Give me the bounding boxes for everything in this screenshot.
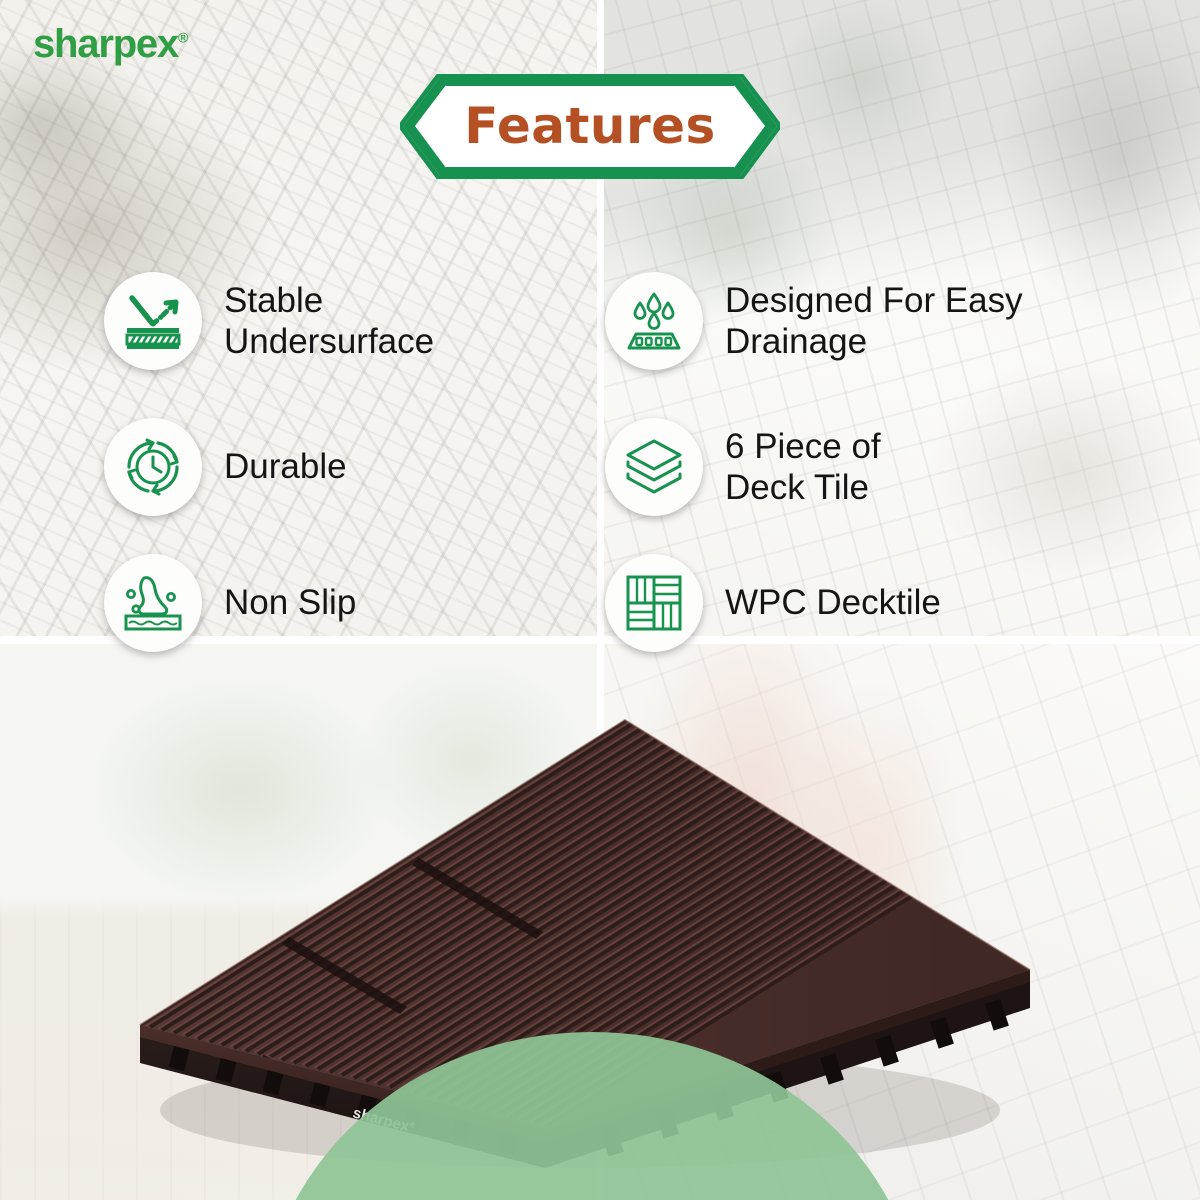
features-banner: Features: [400, 74, 780, 179]
feature-item-wpc-decktile: WPC Decktile: [605, 554, 941, 652]
impact-surface-icon: [122, 290, 184, 352]
brand-logo-text: sharpex: [33, 22, 178, 66]
feature-label: 6 Piece of Deck Tile: [725, 426, 881, 509]
feature-item-durable: Durable: [104, 418, 347, 516]
feature-label: Designed For Easy Drainage: [725, 280, 1023, 363]
feature-label: Durable: [224, 446, 347, 487]
registered-mark-icon: ®: [178, 30, 187, 46]
feature-icon-badge: [605, 272, 703, 370]
page-title: Features: [400, 74, 780, 179]
feature-icon-badge: [104, 272, 202, 370]
brand-logo: sharpex®: [33, 24, 187, 64]
feature-icon-badge: [605, 418, 703, 516]
product-photo: sharpex®: [0, 640, 1200, 1200]
feature-icon-badge: [104, 418, 202, 516]
feature-item-six-piece-deck-tile: 6 Piece of Deck Tile: [605, 418, 881, 516]
feature-icon-badge: [605, 554, 703, 652]
feature-label: Non Slip: [224, 582, 356, 623]
parquet-tile-icon: [624, 573, 684, 633]
feature-label: Stable Undersurface: [224, 280, 434, 363]
infographic-page: sharpex® Features: [0, 0, 1200, 1200]
feature-label: WPC Decktile: [725, 582, 941, 623]
clock-cycle-icon: [122, 436, 184, 498]
water-drainage-icon: [623, 290, 685, 352]
stacked-layers-icon: [622, 435, 686, 499]
feature-icon-badge: [104, 554, 202, 652]
feature-item-easy-drainage: Designed For Easy Drainage: [605, 272, 1023, 370]
foot-water-icon: [122, 572, 184, 634]
feature-item-non-slip: Non Slip: [104, 554, 356, 652]
feature-item-stable-undersurface: Stable Undersurface: [104, 272, 434, 370]
